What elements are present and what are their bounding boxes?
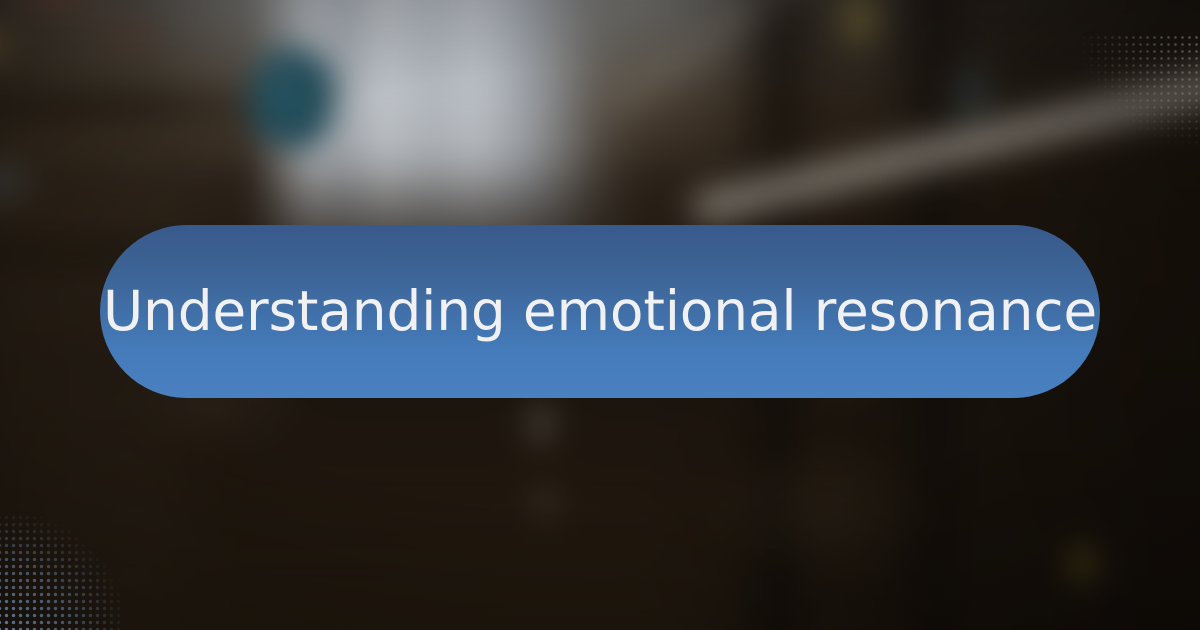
title-pill: Understanding emotional resonance	[100, 225, 1100, 398]
desk-lamp-shade	[248, 47, 335, 149]
shelf-railing-diagonal-upper	[607, 0, 917, 121]
social-card-canvas: Understanding emotional resonance	[0, 0, 1200, 630]
page-title: Understanding emotional resonance	[103, 282, 1097, 341]
shelf-railing-diagonal	[690, 35, 1200, 234]
